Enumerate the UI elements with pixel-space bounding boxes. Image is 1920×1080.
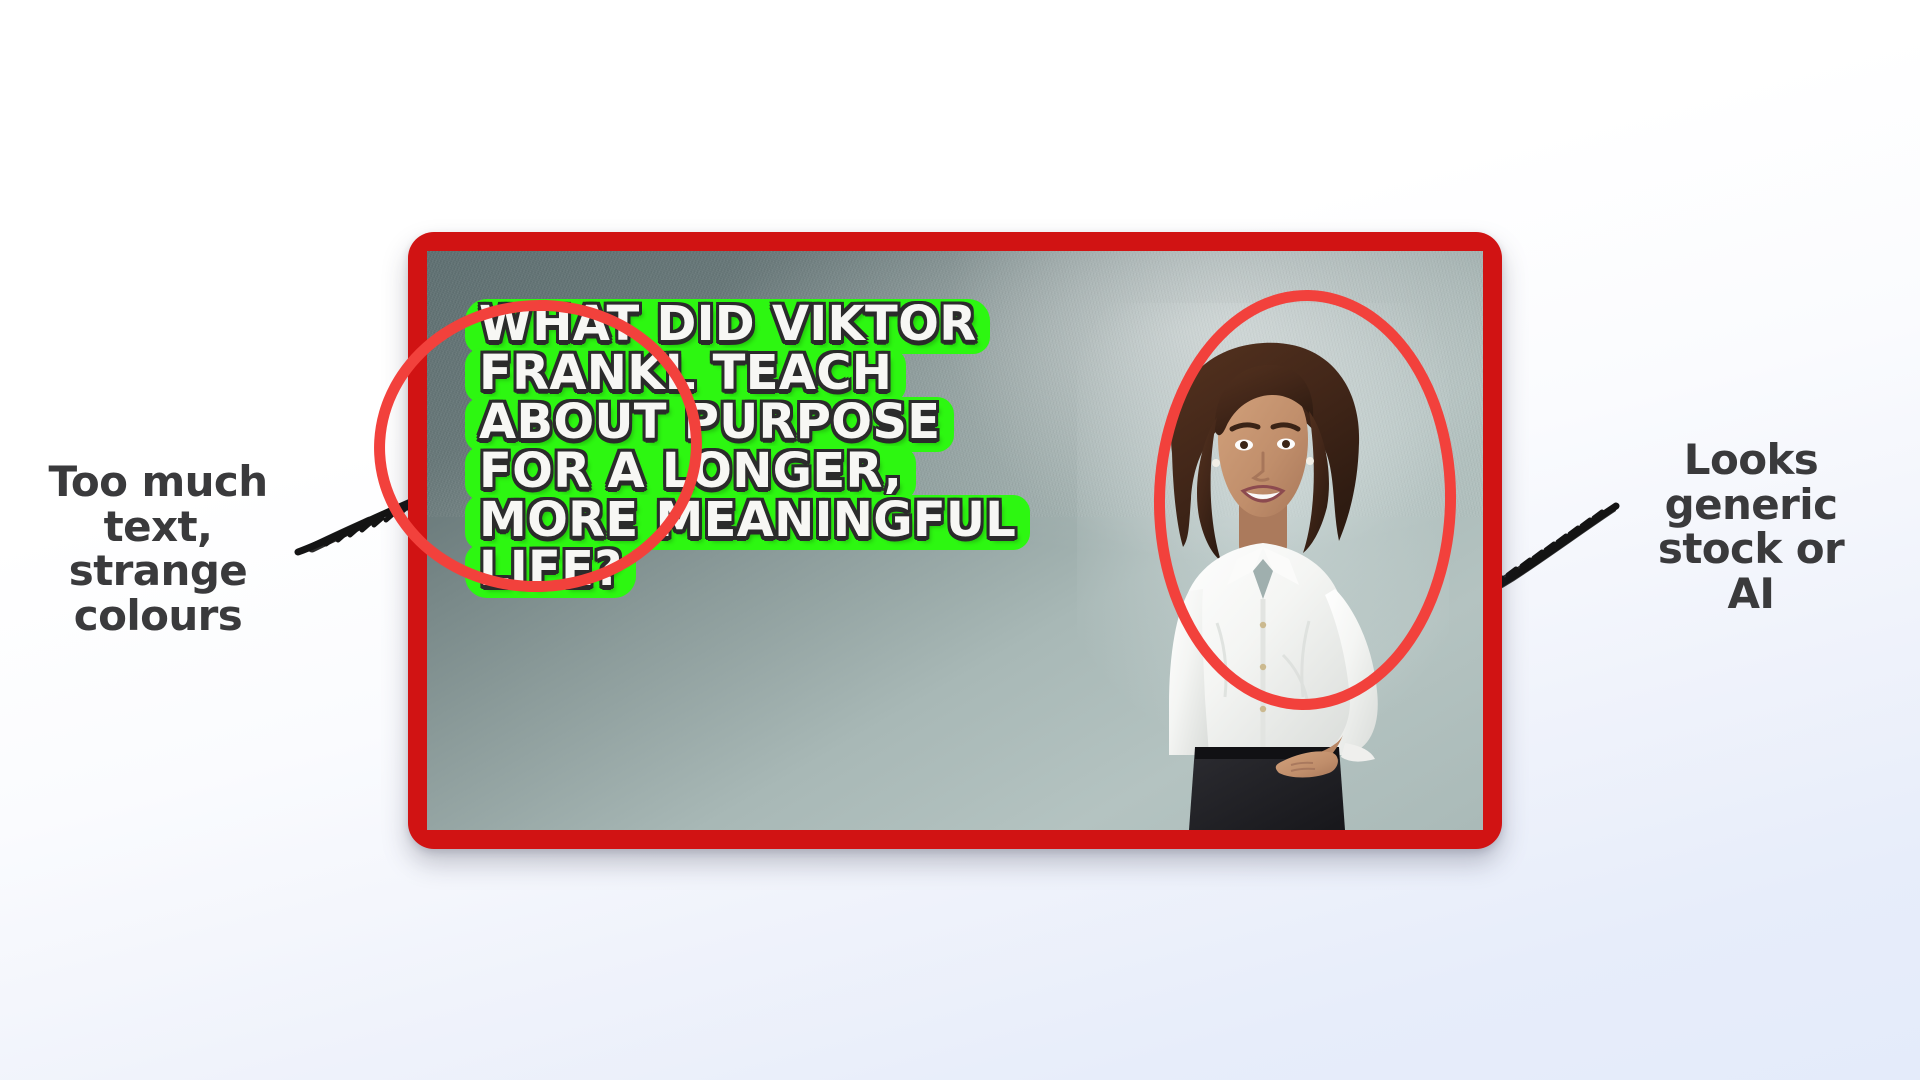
headline-line-1-text: WHAT DID VIKTOR — [479, 300, 976, 350]
right-annotation-line-3: stock or — [1630, 527, 1872, 572]
left-annotation-line-1: Too much — [22, 460, 294, 505]
person-earring-left — [1212, 459, 1220, 467]
headline-line-4-text: FOR A LONGER, — [479, 447, 902, 497]
headline-line-3-text: ABOUT PURPOSE — [479, 398, 940, 448]
headline-line-5-text: MORE MEANINGFUL — [479, 496, 1016, 546]
right-annotation-line-1: Looks — [1630, 438, 1872, 483]
person-earring-right — [1306, 457, 1314, 465]
right-annotation-label: Looks generic stock or AI — [1630, 438, 1872, 616]
headline-line-6-text: LIFE? — [479, 545, 622, 595]
left-annotation-label: Too much text, strange colours — [22, 460, 294, 638]
right-annotation-line-2: generic — [1630, 483, 1872, 528]
stock-photo-person — [1077, 303, 1449, 830]
thumbnail-headline: WHAT DID VIKTOR FRANKL TEACH ABOUT PURPO… — [465, 299, 1105, 592]
left-annotation-line-2: text, — [22, 505, 294, 550]
headline-line-6: LIFE? — [465, 544, 636, 599]
headline-line-2-text: FRANKL TEACH — [479, 349, 892, 399]
youtube-thumbnail-frame[interactable]: WHAT DID VIKTOR FRANKL TEACH ABOUT PURPO… — [408, 232, 1502, 849]
left-annotation-line-4: colours — [22, 594, 294, 639]
thumbnail-content: WHAT DID VIKTOR FRANKL TEACH ABOUT PURPO… — [427, 251, 1483, 830]
left-annotation-line-3: strange — [22, 549, 294, 594]
right-annotation-line-4: AI — [1630, 572, 1872, 617]
